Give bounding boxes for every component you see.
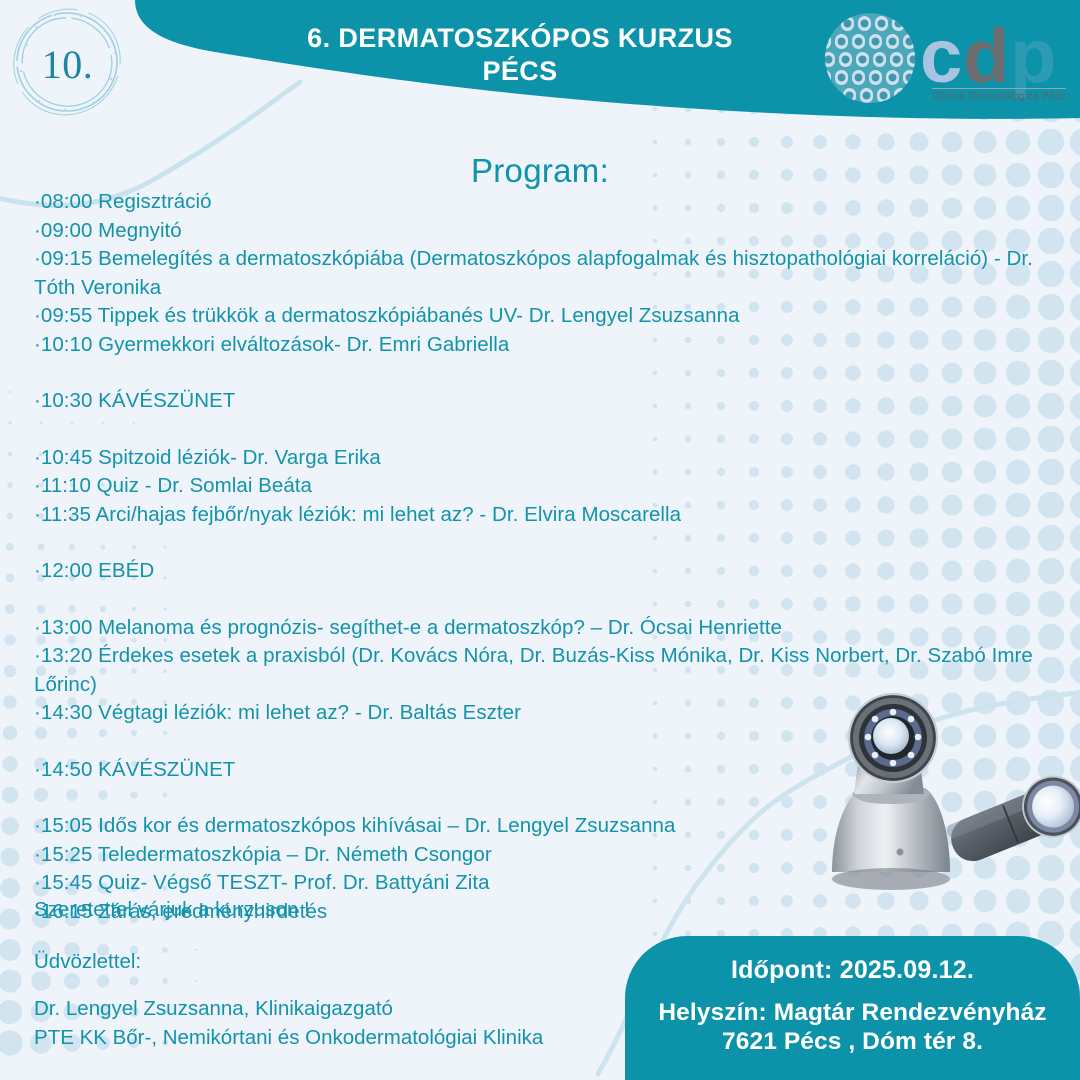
event-venue: Helyszín: Magtár Rendezvényház 7621 Pécs… <box>625 998 1080 1056</box>
event-date: Időpont: 2025.09.12. <box>625 956 1080 985</box>
venue-line-2: 7621 Pécs , Dóm tér 8. <box>625 1027 1080 1056</box>
program-item: ·09:15 Bemelegítés a dermatoszkópiába (D… <box>34 245 1044 302</box>
program-item: ·09:55 Tippek és trükkök a dermatoszkópi… <box>34 302 1044 331</box>
program-spacer <box>34 586 1044 614</box>
anniversary-number: 10. <box>5 5 130 123</box>
program-item: ·09:00 Megnyitó <box>34 217 1044 246</box>
program-item: ·11:10 Quiz - Dr. Somlai Beáta <box>34 472 1044 501</box>
program-heading: Program: <box>0 152 1080 190</box>
program-item: ·11:35 Arci/hajas fejbőr/nyak léziók: mi… <box>34 501 1044 530</box>
program-spacer <box>34 784 1044 812</box>
cdp-dotted-sphere-icon <box>818 13 920 103</box>
poster-canvas: 10. 6. DERMATOSZKÓPOS KURZUS PÉCS <box>0 0 1080 1080</box>
program-item: ·14:30 Végtagi léziók: mi lehet az? - Dr… <box>34 699 1044 728</box>
signature-line-2: PTE KK Bőr-, Nemikórtani és Onkodermatol… <box>34 1024 543 1053</box>
logo-letter-c: c <box>920 14 962 99</box>
program-item: ·14:50 KÁVÉSZÜNET <box>34 756 1044 785</box>
logo-letter-d: d <box>963 14 1009 99</box>
program-item: ·13:20 Érdekes esetek a praxisból (Dr. K… <box>34 642 1044 699</box>
program-spacer <box>34 359 1044 387</box>
program-item: ·15:25 Teledermatoszkópia – Dr. Németh C… <box>34 841 1044 870</box>
title-line-2: PÉCS <box>200 55 840 88</box>
logo-caption: Clinica Dermatologica Pécs <box>932 88 1066 102</box>
signature-line-1: Dr. Lengyel Zsuzsanna, Klinikaigazgató <box>34 995 543 1024</box>
event-info-box: Időpont: 2025.09.12. Helyszín: Magtár Re… <box>625 936 1080 1080</box>
program-item: ·15:05 Idős kor és dermatoszkópos kihívá… <box>34 812 1044 841</box>
program-item: ·08:00 Regisztráció <box>34 188 1044 217</box>
program-spacer <box>34 728 1044 756</box>
regards-text: Üdvözlettel: <box>34 948 141 977</box>
program-item: ·12:00 EBÉD <box>34 557 1044 586</box>
program-content: Program: ·08:00 Regisztráció·09:00 Megny… <box>0 0 1080 1080</box>
program-item: ·15:45 Quiz- Végső TESZT- Prof. Dr. Batt… <box>34 869 1044 898</box>
venue-line-1: Helyszín: Magtár Rendezvényház <box>625 998 1080 1027</box>
program-item: ·13:00 Melanoma és prognózis- segíthet-e… <box>34 614 1044 643</box>
title-line-1: 6. DERMATOSZKÓPOS KURZUS <box>307 23 733 53</box>
page-title: 6. DERMATOSZKÓPOS KURZUS PÉCS <box>200 22 840 88</box>
invitation-text: Szeretettel várjuk a kurzuson ! <box>34 896 310 925</box>
signature-block: Dr. Lengyel Zsuzsanna, Klinikaigazgató P… <box>34 995 543 1052</box>
anniversary-badge: 10. <box>5 5 130 123</box>
program-item: ·10:30 KÁVÉSZÜNET <box>34 387 1044 416</box>
program-spacer <box>34 416 1044 444</box>
program-item: ·10:10 Gyermekkori elváltozások- Dr. Emr… <box>34 331 1044 360</box>
program-list: ·08:00 Regisztráció·09:00 Megnyitó·09:15… <box>34 188 1044 926</box>
program-item: ·10:45 Spitzoid léziók- Dr. Varga Erika <box>34 444 1044 473</box>
program-spacer <box>34 529 1044 557</box>
logo-letter-p: p <box>1010 14 1056 99</box>
